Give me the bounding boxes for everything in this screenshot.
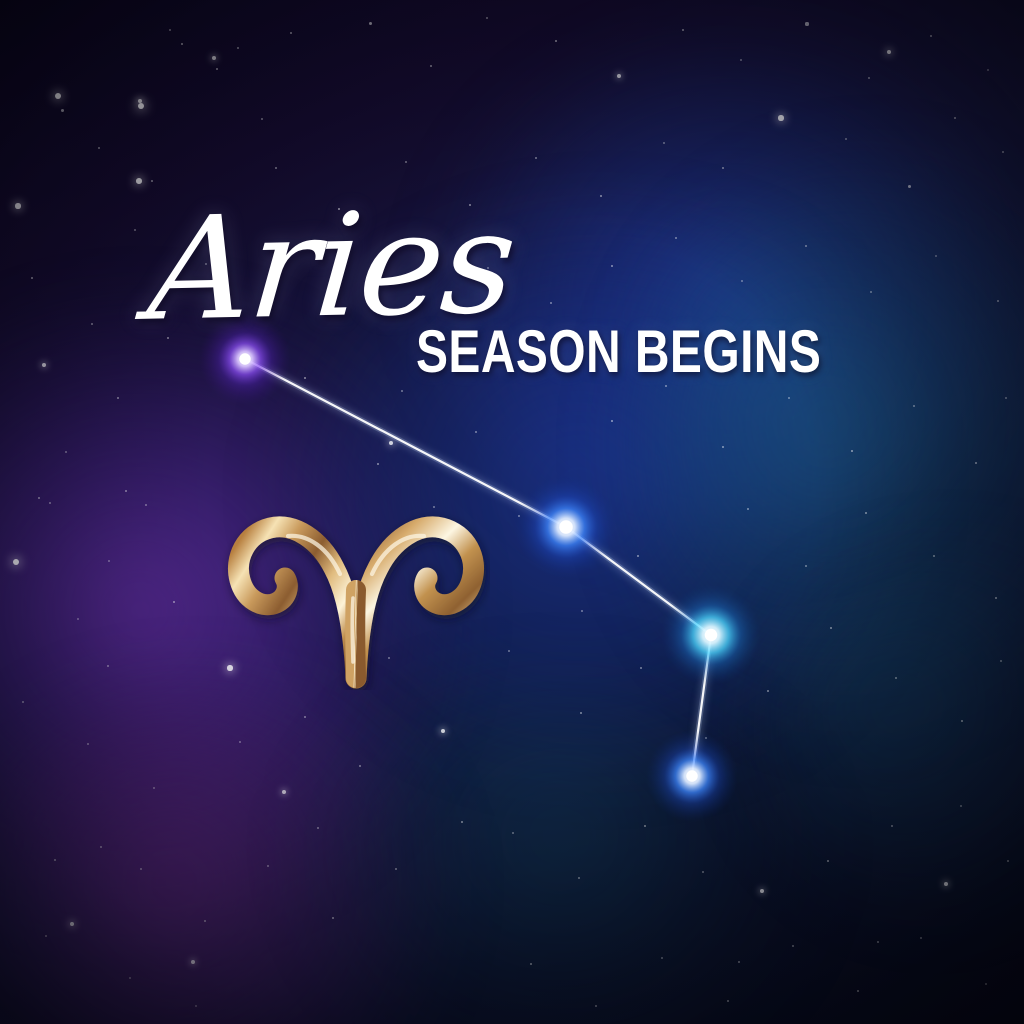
title-block: Aries SEASON BEGINS: [0, 0, 1024, 1024]
zodiac-poster: Aries SEASON BEGINS: [0, 0, 1024, 1024]
subtitle: SEASON BEGINS: [416, 322, 821, 382]
